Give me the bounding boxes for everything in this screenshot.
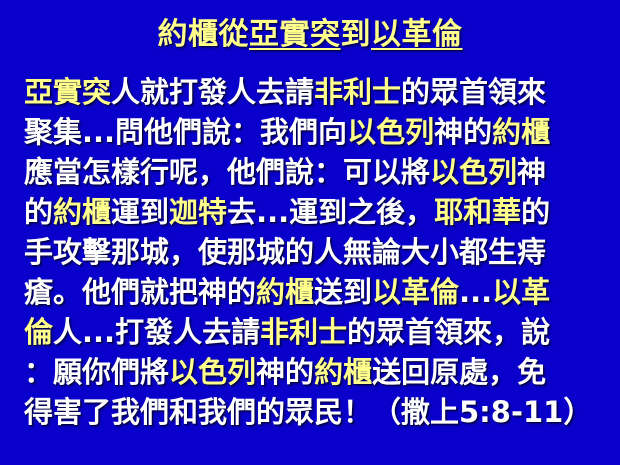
- body-text-run: 的: [285, 355, 314, 389]
- body-line: 聚集...問他們說：我們向以色列神的約櫃: [24, 112, 600, 152]
- body-line: 得害了我們和我們的眾民！（撒上5:8-11）: [24, 392, 600, 432]
- slide-body-text: 亞實突人就打發人去請非利士的眾首領來聚集...問他們說：我們向以色列神的約櫃應當…: [24, 72, 600, 432]
- highlighted-term: 非利士: [260, 315, 347, 349]
- body-text-run: 瘡。他們就把神的: [24, 275, 256, 309]
- highlighted-term: 約櫃: [314, 355, 372, 389]
- highlighted-term: 以革倫: [372, 275, 459, 309]
- body-text-run: 手攻擊那城，使那城的人無論大小都生痔: [24, 235, 546, 269]
- highlighted-term: 以革: [492, 275, 550, 309]
- body-text-run: 送回原處，免: [372, 355, 546, 389]
- body-text-run: 的: [24, 195, 53, 229]
- highlighted-term: 約櫃: [53, 195, 111, 229]
- highlighted-term: 以色列: [169, 355, 256, 389]
- body-line: 的約櫃運到迦特去...運到之後，耶和華的: [24, 192, 600, 232]
- highlighted-term: 耶和華: [434, 195, 521, 229]
- highlighted-term: 倫: [24, 315, 53, 349]
- body-text-run: 神: [517, 155, 546, 189]
- title-segment-3: 到: [341, 17, 372, 52]
- highlighted-term: 亞實突: [24, 75, 111, 109]
- body-line: 倫人...打發人去請非利士的眾首領來，說: [24, 312, 600, 352]
- body-text-run: 神的: [434, 115, 492, 149]
- body-text-run: 的眾首領來，說: [347, 315, 550, 349]
- highlighted-term: 以色列: [430, 155, 517, 189]
- title-segment-ashdod: 亞實突: [249, 17, 341, 52]
- body-text-run: 人...打發人去請: [53, 315, 260, 349]
- body-text-run: 得害了我們和我們的眾民！（撒上5:8-11）: [24, 395, 592, 429]
- body-line: 亞實突人就打發人去請非利士的眾首領來: [24, 72, 600, 112]
- presentation-slide: 約櫃從亞實突到以革倫 亞實突人就打發人去請非利士的眾首領來聚集...問他們說：我…: [0, 0, 620, 465]
- body-text-run: 的: [521, 195, 550, 229]
- body-text-run: 送到: [314, 275, 372, 309]
- highlighted-term: 迦特: [169, 195, 227, 229]
- title-segment-1: 約櫃從: [158, 17, 250, 52]
- highlighted-term: 非利士: [314, 75, 401, 109]
- body-text-run: 應當怎樣行呢，他們說：可以將: [24, 155, 430, 189]
- title-segment-ekron: 以革倫: [371, 17, 463, 52]
- body-text-run: 神: [256, 355, 285, 389]
- body-line: 應當怎樣行呢，他們說：可以將以色列神: [24, 152, 600, 192]
- body-text-run: 去...運到之後，: [227, 195, 434, 229]
- body-line: ：願你們將以色列神的約櫃送回原處，免: [24, 352, 600, 392]
- slide-title: 約櫃從亞實突到以革倫: [0, 17, 620, 53]
- body-text-run: ...: [459, 275, 492, 309]
- highlighted-term: 約櫃: [256, 275, 314, 309]
- body-text-run: 運到: [111, 195, 169, 229]
- body-text-run: 聚集...問他們說：我們向: [24, 115, 347, 149]
- body-text-run: ：願你們將: [24, 355, 169, 389]
- body-text-run: 的眾首領來: [401, 75, 546, 109]
- body-line: 手攻擊那城，使那城的人無論大小都生痔: [24, 232, 600, 272]
- highlighted-term: 約櫃: [492, 115, 550, 149]
- body-text-run: 人就打發人去請: [111, 75, 314, 109]
- body-line: 瘡。他們就把神的約櫃送到以革倫...以革: [24, 272, 600, 312]
- highlighted-term: 以色列: [347, 115, 434, 149]
